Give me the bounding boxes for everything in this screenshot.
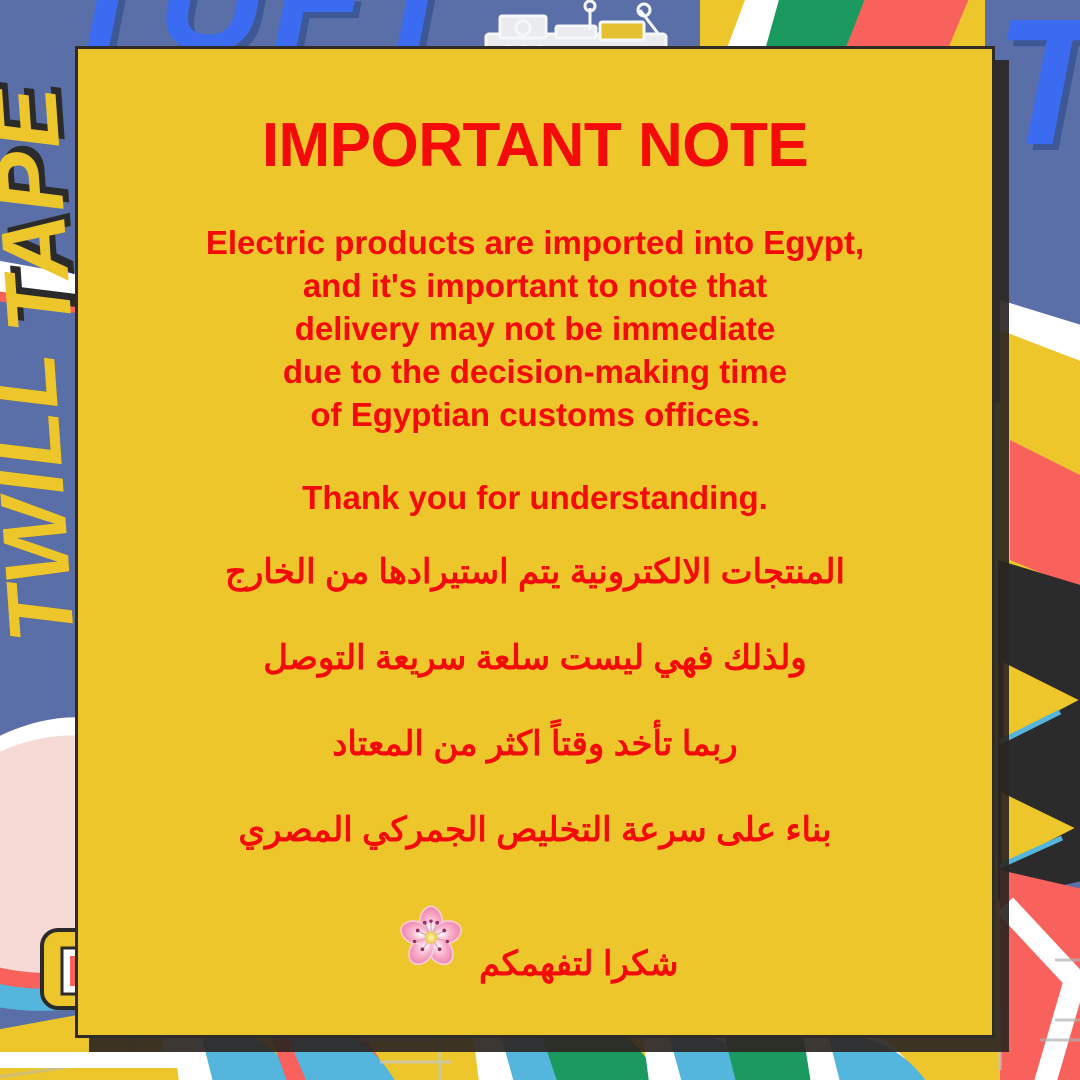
arabic-closing-text: شكرا لتفهمكم	[479, 945, 678, 983]
cherry-blossom-icon	[392, 897, 470, 975]
english-line-2: and it's important to note that	[95, 264, 975, 307]
arabic-line-1: المنتجات الالكترونية يتم استيرادها من ال…	[95, 553, 975, 591]
arabic-line-3: ربما تأخد وقتاً اكثر من المعتاد	[95, 725, 975, 763]
note-thanks-line: Thank you for understanding.	[302, 476, 768, 519]
arabic-line-4: بناء على سرعة التخليص الجمركي المصري	[95, 811, 975, 849]
poster-canvas: TWILL TWILL TAPE TAPE TUFT TUFT	[0, 0, 1080, 1080]
arabic-closing-row: شكرا لتفهمكم	[95, 897, 975, 983]
note-arabic-body: المنتجات الالكترونية يتم استيرادها من ال…	[95, 553, 975, 983]
note-english-body: Electric products are imported into Egyp…	[95, 221, 975, 436]
tu-text-right: TU TU	[994, 0, 1080, 189]
important-note-card: IMPORTANT NOTE Electric products are imp…	[75, 46, 995, 1038]
english-line-5: of Egyptian customs offices.	[95, 393, 975, 436]
note-title: IMPORTANT NOTE	[262, 115, 808, 177]
arabic-line-2: ولذلك فهي ليست سلعة سريعة التوصل	[95, 639, 975, 677]
svg-text:TU: TU	[994, 0, 1080, 183]
english-line-3: delivery may not be immediate	[95, 307, 975, 350]
english-line-1: Electric products are imported into Egyp…	[95, 221, 975, 264]
english-line-4: due to the decision-making time	[95, 350, 975, 393]
